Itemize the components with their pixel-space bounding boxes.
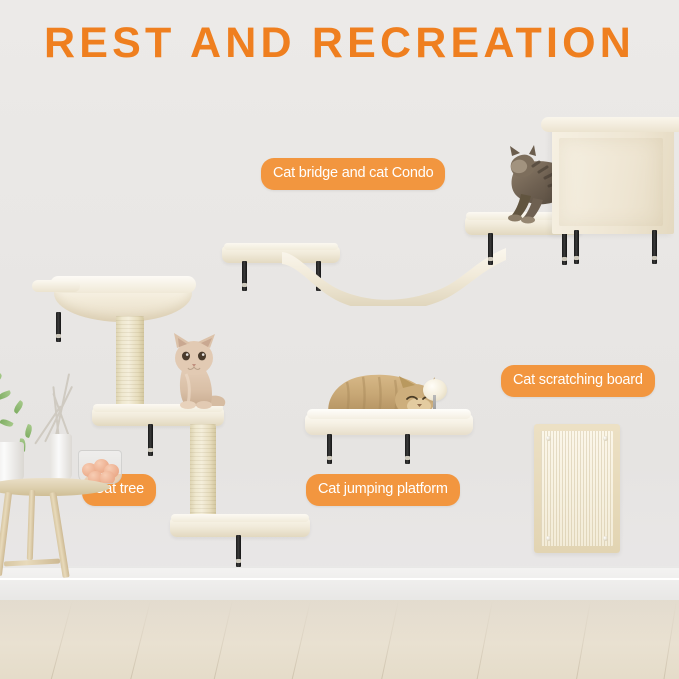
table-leg xyxy=(49,492,69,578)
wall-bracket xyxy=(56,312,61,342)
label-cat-bridge-and-condo: Cat bridge and cat Condo xyxy=(261,158,445,190)
table-stretcher xyxy=(4,559,60,567)
wall-bracket xyxy=(148,424,153,456)
product-infographic: REST AND RECREATION xyxy=(0,0,679,679)
label-cat-jumping-platform: Cat jumping platform xyxy=(306,474,460,506)
wall-bracket xyxy=(652,230,657,264)
branch-vase xyxy=(50,434,72,480)
sisal-panel xyxy=(541,431,613,546)
product-cat-bridge-and-condo xyxy=(222,118,660,283)
screw xyxy=(603,536,608,541)
plant-leaf xyxy=(12,400,25,414)
wall-bracket xyxy=(574,230,579,264)
wall-bracket xyxy=(327,434,332,464)
wall-bracket xyxy=(405,434,410,464)
plant-leaf xyxy=(23,424,33,438)
screw xyxy=(546,536,551,541)
jumping-platform-shelf xyxy=(305,414,473,435)
room-furniture xyxy=(0,350,124,630)
sisal-post-lower xyxy=(190,424,216,522)
label-cat-scratching-board: Cat scratching board xyxy=(501,365,655,397)
plant-leaf xyxy=(0,417,14,428)
bridge-drape xyxy=(280,244,508,306)
plant-leaf xyxy=(0,373,3,386)
plant-pot xyxy=(0,442,24,482)
wall-bracket xyxy=(236,535,241,567)
cat-condo-box xyxy=(552,124,674,234)
product-cat-scratching-board xyxy=(534,424,620,553)
cat-kitten-sitting xyxy=(164,330,236,412)
plant-leaf xyxy=(0,390,12,400)
product-cat-jumping-platform xyxy=(305,390,480,460)
screw xyxy=(546,436,551,441)
wall-bracket xyxy=(562,233,567,265)
screw xyxy=(603,436,608,441)
wall-bracket xyxy=(488,233,493,265)
page-title: REST AND RECREATION xyxy=(0,22,679,65)
table-leg xyxy=(27,490,35,560)
